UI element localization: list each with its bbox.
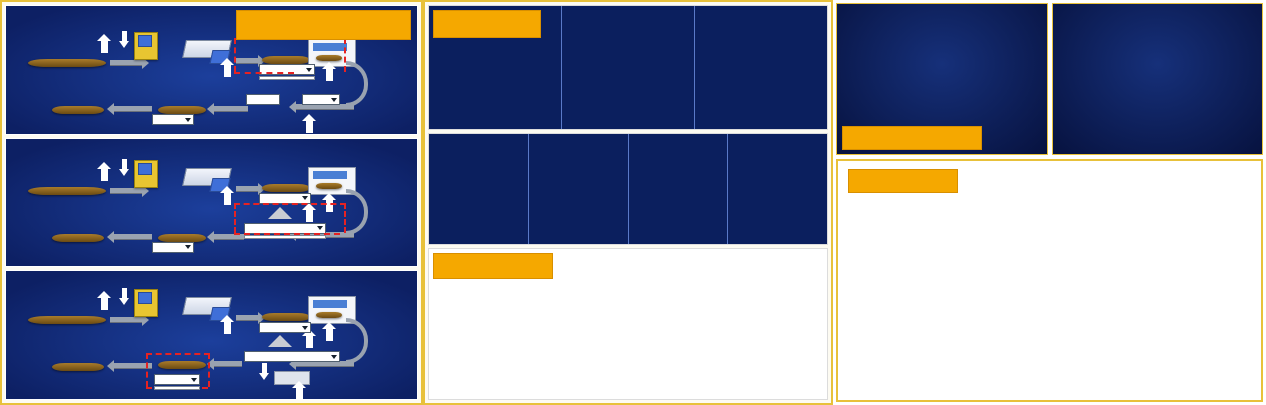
chevron-down-icon (191, 378, 197, 382)
conditioner-inner (138, 163, 152, 175)
cost-row (836, 3, 1263, 155)
stabilized-sludge (52, 363, 104, 371)
ghg-up-arrow-1 (101, 168, 108, 181)
gwp-chart-c[interactable] (695, 6, 827, 129)
return-pipe (346, 61, 368, 107)
solidify-select-c[interactable] (154, 374, 200, 385)
chevron-down-icon (306, 68, 312, 72)
gwp-chart-d[interactable] (429, 134, 529, 244)
ghg-up-arrow-2 (224, 321, 231, 334)
mid-sludge (158, 361, 206, 369)
pam-down-arrow (122, 159, 127, 170)
pressed-sludge (262, 56, 310, 64)
cement-select-c[interactable] (244, 351, 340, 362)
pam-down-arrow (122, 288, 127, 299)
flow-arrow-1 (110, 317, 142, 323)
drying-method-select-c[interactable] (259, 322, 311, 333)
knowledge-graph-banner (848, 169, 958, 193)
return-pipe (346, 318, 368, 364)
highlight-line-a (234, 72, 294, 74)
solidify-select-a[interactable] (152, 114, 194, 125)
flow-arrow-1 (110, 60, 142, 66)
ghg-up-arrow-1 (101, 297, 108, 310)
raw-sludge-bed (28, 316, 106, 324)
return-pipe (346, 189, 368, 235)
gwp-top-charts (428, 5, 828, 130)
cost-panel-a[interactable] (836, 3, 1048, 155)
cost-panel-b[interactable] (1052, 3, 1264, 155)
knowledge-graph-edges (838, 161, 1261, 400)
drying-method-select-b[interactable] (259, 193, 311, 204)
gwp-contribution-banner (433, 253, 553, 279)
mid-sludge (158, 234, 206, 242)
flow-arrow-4 (214, 361, 242, 367)
chevron-down-icon (302, 196, 308, 200)
screenshot-root (0, 0, 1266, 405)
chevron-down-icon (317, 226, 323, 230)
gwp-chart-f[interactable] (629, 134, 729, 244)
stabilized-sludge (52, 234, 104, 242)
flow-panel-a (5, 5, 418, 135)
flow-arrow-4 (214, 106, 248, 112)
chevron-down-icon (331, 355, 337, 359)
pam-down-arrow (122, 31, 127, 42)
chevron-down-icon (302, 326, 308, 330)
knowledge-graph-panel[interactable] (836, 159, 1263, 402)
solid-select-a[interactable] (302, 94, 340, 105)
solidify-select-b[interactable] (152, 242, 194, 253)
pressed-sludge (262, 184, 310, 192)
chevron-down-icon (185, 118, 191, 122)
flow-panel-b (5, 138, 418, 268)
truck-icon (313, 171, 347, 179)
ghg-up-arrow-4 (306, 120, 313, 133)
economic-cost-banner (842, 126, 982, 150)
ghg-up-arrow-1 (101, 40, 108, 53)
gwp-contribution-charts (428, 248, 828, 400)
gwp-chart-e[interactable] (529, 134, 629, 244)
ghg-up-arrow-2 (224, 192, 231, 205)
ghg-up-arrow-5 (296, 387, 303, 400)
truck-icon (313, 300, 347, 308)
process-flow-group (0, 0, 423, 405)
ghg-up-arrow-4 (306, 335, 313, 348)
cement-dropdown[interactable] (244, 235, 326, 239)
flow-arrow-2 (236, 315, 258, 321)
ghg-up-arrow-3 (326, 68, 333, 81)
truck-load (316, 183, 342, 189)
gwp-banner (433, 10, 541, 38)
truck-icon (313, 43, 347, 51)
conditioner-inner (138, 292, 152, 304)
dropdown-form-banner (236, 10, 411, 40)
gwp-chart-g[interactable] (728, 134, 827, 244)
gwp-mid-charts (428, 133, 828, 245)
solidify-dropdown[interactable] (154, 386, 200, 390)
flow-arrow-1 (110, 188, 142, 194)
feed-down-arrow (262, 363, 267, 374)
cement-pile (268, 335, 292, 347)
mid-sludge (158, 106, 206, 114)
truck-load (316, 312, 342, 318)
cost-and-graph-column (833, 0, 1266, 405)
cement-pile (268, 207, 292, 219)
gwp-chart-b[interactable] (562, 6, 695, 129)
flow-arrow-3 (114, 106, 152, 112)
conditioner-inner (138, 35, 152, 47)
flow-arrow-3 (114, 234, 152, 240)
ghg-up-arrow-2 (224, 64, 231, 77)
ghg-up-arrow-3 (326, 328, 333, 341)
drying-method-dropdown[interactable] (259, 76, 315, 80)
flow-arrow-2 (236, 186, 258, 192)
flow-arrow-2 (236, 58, 258, 64)
ghg-up-arrow-4 (306, 209, 313, 222)
stabilized-sludge (52, 106, 104, 114)
chevron-down-icon (331, 98, 337, 102)
gwp-group (423, 0, 833, 405)
ghg-up-arrow-3 (326, 199, 333, 212)
raw-sludge-bed (28, 187, 106, 195)
raw-sludge-bed (28, 59, 106, 67)
flow-arrow-3 (114, 363, 152, 369)
cement-select-a[interactable] (246, 94, 280, 105)
chevron-down-icon (185, 245, 191, 249)
pressed-sludge (262, 313, 310, 321)
truck-load (316, 55, 342, 61)
flow-panel-c (5, 270, 418, 400)
